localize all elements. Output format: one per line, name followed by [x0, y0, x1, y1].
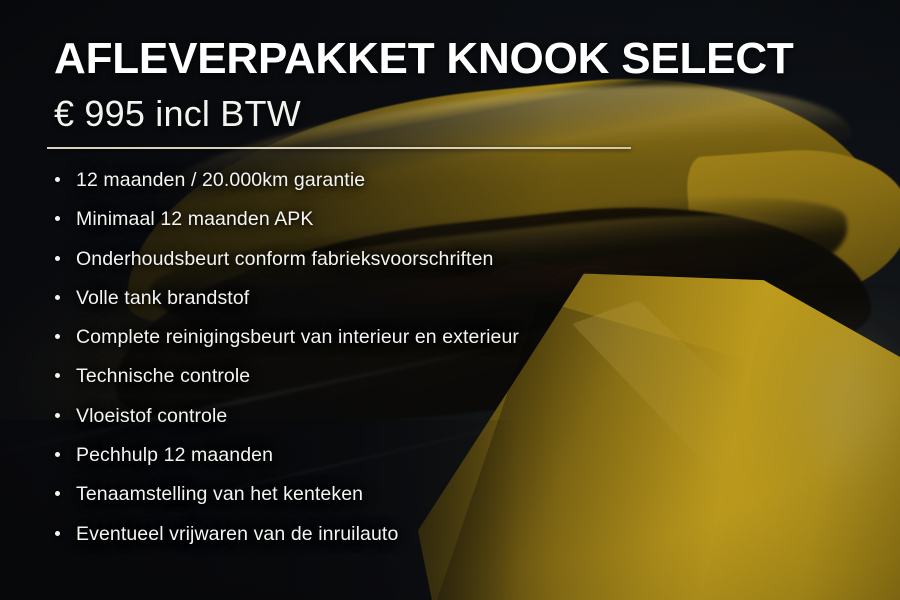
bullet-dot-icon: [55, 334, 60, 339]
bullet-dot-icon: [55, 216, 60, 221]
list-item-label: Vloeistof controle: [76, 405, 227, 427]
list-item-label: Eventueel vrijwaren van de inruilauto: [76, 523, 398, 545]
divider: [47, 147, 631, 149]
bullet-dot-icon: [55, 177, 60, 182]
list-item: 12 maanden / 20.000km garantie: [54, 166, 519, 205]
list-item: Onderhoudsbeurt conform fabrieksvoorschr…: [54, 245, 519, 284]
list-item: Technische controle: [54, 362, 519, 401]
bullet-dot-icon: [55, 491, 60, 496]
bullet-dot-icon: [55, 295, 60, 300]
list-item: Complete reinigingsbeurt van interieur e…: [54, 323, 519, 362]
list-item: Eventueel vrijwaren van de inruilauto: [54, 520, 519, 559]
list-item: Vloeistof controle: [54, 402, 519, 441]
list-item-label: Onderhoudsbeurt conform fabrieksvoorschr…: [76, 248, 493, 270]
bullet-dot-icon: [55, 373, 60, 378]
delivery-package-card: AFLEVERPAKKET KNOOK SELECT € 995 incl BT…: [0, 0, 900, 600]
bullet-dot-icon: [55, 256, 60, 261]
list-item-label: Complete reinigingsbeurt van interieur e…: [76, 326, 519, 348]
bullet-dot-icon: [55, 531, 60, 536]
card-content: AFLEVERPAKKET KNOOK SELECT € 995 incl BT…: [0, 0, 900, 600]
feature-list: 12 maanden / 20.000km garantieMinimaal 1…: [54, 166, 519, 559]
list-item: Pechhulp 12 maanden: [54, 441, 519, 480]
list-item: Tenaamstelling van het kenteken: [54, 480, 519, 519]
price-label: € 995 incl BTW: [54, 94, 301, 134]
bullet-dot-icon: [55, 413, 60, 418]
list-item: Minimaal 12 maanden APK: [54, 205, 519, 244]
bullet-dot-icon: [55, 452, 60, 457]
list-item-label: Technische controle: [76, 365, 250, 387]
list-item-label: Volle tank brandstof: [76, 287, 249, 309]
list-item-label: Tenaamstelling van het kenteken: [76, 483, 363, 505]
page-title: AFLEVERPAKKET KNOOK SELECT: [54, 36, 794, 82]
list-item-label: Pechhulp 12 maanden: [76, 444, 273, 466]
list-item-label: Minimaal 12 maanden APK: [76, 208, 314, 230]
list-item-label: 12 maanden / 20.000km garantie: [76, 169, 365, 191]
list-item: Volle tank brandstof: [54, 284, 519, 323]
